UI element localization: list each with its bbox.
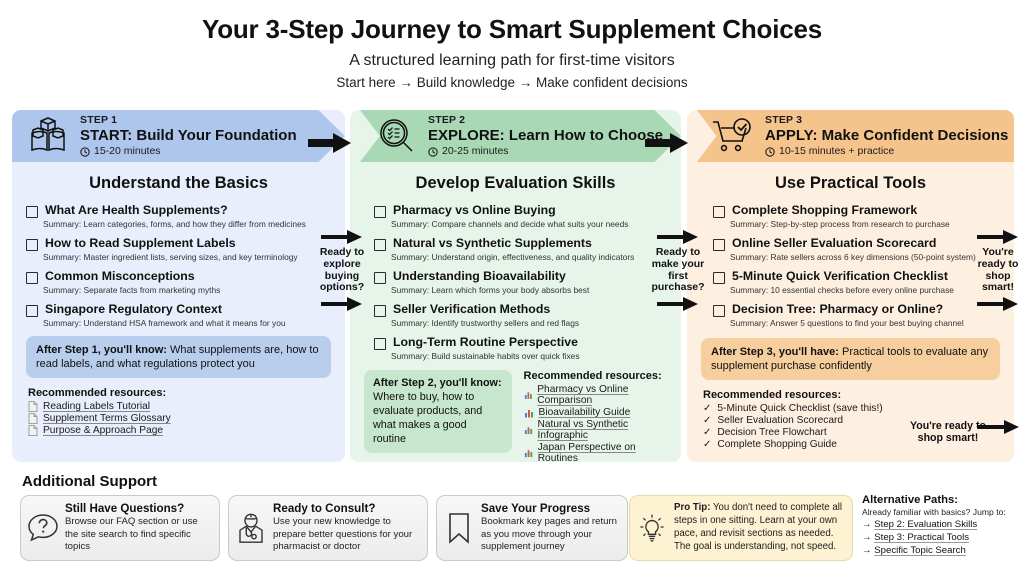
checklist-item-summary: Summary: Step-by-step process from resea… [730,219,1000,229]
alternative-path-label: Step 2: Evaluation Skills [874,519,977,530]
checklist-item-title: Decision Tree: Pharmacy or Online? [732,302,943,316]
check-icon: ✓ [703,439,711,450]
alternative-path-link[interactable]: → Step 3: Practical Tools [862,532,1022,543]
resource-label: 5-Minute Quick Checklist (save this!) [717,403,882,414]
step-2-resources: Recommended resources: Pharmacy vs Onlin… [524,370,667,462]
resources-heading: Recommended resources: [524,370,667,382]
checkbox-icon[interactable] [26,305,38,317]
infographic-page: Your 3-Step Journey to Smart Supplement … [0,0,1024,571]
checklist-item[interactable]: Seller Verification Methods Summary: Ide… [374,302,667,328]
bar-chart-icon [524,390,533,400]
band-arrow-1-icon [308,132,352,154]
checklist-item-summary: Summary: Compare channels and decide wha… [391,219,667,229]
checklist-item[interactable]: Natural vs Synthetic Supplements Summary… [374,236,667,262]
checklist-item-title: Understanding Bioavailability [393,269,566,283]
step-3-duration: 10-15 minutes + practice [779,146,894,157]
step-2-footer: After Step 2, you'll know: Where to buy,… [350,370,681,462]
shopping-cart-check-icon [707,117,759,155]
support-card-body: Use your new knowledge to prepare better… [273,516,419,553]
step-2-column: STEP 2 EXPLORE: Learn How to Choose 20-2… [350,110,681,462]
step-1-section-heading: Understand the Basics [12,174,345,193]
support-card-consult[interactable]: Ready to Consult? Use your new knowledge… [228,495,428,561]
step-3-header-band: STEP 3 APPLY: Make Confident Decisions 1… [687,110,1014,162]
step-1-header-band: STEP 1 START: Build Your Foundation 15-2… [12,110,345,162]
alternative-paths-box: Alternative Paths: Already familiar with… [862,494,1022,556]
step-1-duration-row: 15-20 minutes [80,146,297,157]
connector-3: You're ready to shop smart! [972,230,1024,311]
checklist-item-title: Natural vs Synthetic Supplements [393,236,592,250]
resources-heading: Recommended resources: [28,387,345,399]
bar-chart-icon [524,425,533,435]
document-icon [28,425,38,436]
resource-link[interactable]: Pharmacy vs Online Comparison [524,384,667,406]
alternative-path-label: Step 3: Practical Tools [874,532,969,543]
checklist-item[interactable]: Common Misconceptions Summary: Separate … [26,269,331,295]
alternative-path-link[interactable]: → Step 2: Evaluation Skills [862,519,1022,530]
step-3-checklist: Complete Shopping Framework Summary: Ste… [687,203,1014,328]
step-3-name: APPLY: Make Confident Decisions [765,128,1008,144]
resource-label: Complete Shopping Guide [717,439,837,450]
step-3-label: STEP 3 [765,115,1008,126]
page-subtitle: A structured learning path for first-tim… [0,45,1024,70]
alternative-path-link[interactable]: → Specific Topic Search [862,545,1022,556]
checklist-item-title: Online Seller Evaluation Scorecard [732,236,936,250]
resource-link[interactable]: Bioavailability Guide [524,407,667,418]
checklist-item-title: How to Read Supplement Labels [45,236,236,250]
arrow-right-icon [977,230,1019,244]
connector-3-label: You're ready to shop smart! [972,247,1024,294]
checklist-item-summary: Summary: Build sustainable habits over q… [391,351,667,361]
resource-link[interactable]: Supplement Terms Glossary [28,413,345,424]
support-card-title: Save Your Progress [481,502,619,515]
bar-chart-icon [524,408,534,418]
step-1-duration: 15-20 minutes [94,146,161,157]
checklist-item[interactable]: Pharmacy vs Online Buying Summary: Compa… [374,203,667,229]
checklist-item-summary: Summary: Identify trustworthy sellers an… [391,318,667,328]
checkbox-icon[interactable] [713,272,725,284]
clock-icon [80,147,90,157]
checklist-item-title: Long-Term Routine Perspective [393,335,578,349]
step-2-section-heading: Develop Evaluation Skills [350,174,681,193]
resource-label: Japan Perspective on Routines [538,442,667,462]
checkbox-icon[interactable] [713,305,725,317]
step-1-outcome-box: After Step 1, you'll know: What suppleme… [26,336,331,378]
alternative-paths-subtitle: Already familiar with basics? Jump to: [862,507,1022,517]
checklist-item-title: Singapore Regulatory Context [45,302,222,316]
step-1-checklist: What Are Health Supplements? Summary: Le… [12,203,345,328]
support-card-title: Ready to Consult? [273,502,419,515]
step-2-duration: 20-25 minutes [442,146,509,157]
resource-link[interactable]: Purpose & Approach Page [28,425,345,436]
alternative-paths-title: Alternative Paths: [862,494,1022,506]
checklist-item[interactable]: Online Seller Evaluation Scorecard Summa… [713,236,1000,262]
lightbulb-icon [630,512,674,544]
checkbox-icon[interactable] [374,239,386,251]
checkbox-icon[interactable] [26,239,38,251]
checklist-item[interactable]: What Are Health Supplements? Summary: Le… [26,203,331,229]
pro-tip-label: Pro Tip: [674,502,710,513]
step-1-column: STEP 1 START: Build Your Foundation 15-2… [12,110,345,462]
checkbox-icon[interactable] [713,206,725,218]
checklist-item-summary: Summary: Rate sellers across 6 key dimen… [730,252,1000,262]
step-2-outcome-text: Where to buy, how to evaluate products, … [373,391,482,444]
resource-label: Supplement Terms Glossary [43,413,171,424]
resource-label: Decision Tree Flowchart [717,427,826,438]
arrow-right-icon [657,230,699,244]
bar-chart-icon [524,448,533,458]
step-3-column: STEP 3 APPLY: Make Confident Decisions 1… [687,110,1014,462]
resource-label: Seller Evaluation Scorecard [717,415,843,426]
checkbox-icon[interactable] [374,206,386,218]
checklist-item-summary: Summary: 10 essential checks before ever… [730,285,1000,295]
checkbox-icon[interactable] [374,338,386,350]
checklist-item-summary: Summary: Understand HSA framework and wh… [43,318,331,328]
bookmark-icon [437,511,481,545]
checklist-item[interactable]: Understanding Bioavailability Summary: L… [374,269,667,295]
pharmacist-icon [229,511,273,545]
page-tagline: Start here → Build knowledge → Make conf… [0,70,1024,90]
step-2-label: STEP 2 [428,115,663,126]
arrow-right-icon [657,297,699,311]
arrow-right-icon [321,230,363,244]
step-2-duration-row: 20-25 minutes [428,146,663,157]
check-icon: ✓ [703,403,711,414]
band-arrow-2-icon [645,132,689,154]
document-icon [28,413,38,424]
step-3-outcome-label: After Step 3, you'll have: [711,346,839,358]
step-3-section-heading: Use Practical Tools [687,174,1014,193]
support-card-body: Browse our FAQ section or use the site s… [65,516,211,553]
document-icon [28,401,38,412]
resource-link[interactable]: Natural vs Synthetic Infographic [524,419,667,441]
support-heading: Additional Support [22,473,157,490]
checkbox-icon[interactable] [26,272,38,284]
step-1-resources: Recommended resources: Reading Labels Tu… [28,387,345,436]
checklist-item-summary: Summary: Separate facts from marketing m… [43,285,331,295]
checklist-item[interactable]: How to Read Supplement Labels Summary: M… [26,236,331,262]
checklist-item-title: Pharmacy vs Online Buying [393,203,556,217]
support-card-faq[interactable]: Still Have Questions? Browse our FAQ sec… [20,495,220,561]
checklist-item-title: What Are Health Supplements? [45,203,228,217]
checklist-item[interactable]: Decision Tree: Pharmacy or Online? Summa… [713,302,1000,328]
final-arrow-right-icon [978,420,1020,434]
checklist-item[interactable]: 5-Minute Quick Verification Checklist Su… [713,269,1000,295]
resource-label: Pharmacy vs Online Comparison [537,384,667,406]
resource-label: Reading Labels Tutorial [43,401,150,412]
clock-icon [765,147,775,157]
connector-2: Ready to make your first purchase? [650,230,706,311]
step-1-name: START: Build Your Foundation [80,128,297,144]
checklist-item-title: 5-Minute Quick Verification Checklist [732,269,948,283]
pro-tip-box: Pro Tip: You don't need to complete all … [629,495,853,561]
checklist-item-title: Complete Shopping Framework [732,203,917,217]
checklist-item-summary: Summary: Understand origin, effectivenes… [391,252,667,262]
checklist-item-title: Seller Verification Methods [393,302,550,316]
check-icon: ✓ [703,415,711,426]
check-icon: ✓ [703,427,711,438]
checklist-item-summary: Summary: Master ingredient lists, servin… [43,252,331,262]
checklist-item[interactable]: Long-Term Routine Perspective Summary: B… [374,335,667,361]
clock-icon [428,147,438,157]
checklist-item-summary: Summary: Answer 5 questions to find your… [730,318,1000,328]
support-card-save[interactable]: Save Your Progress Bookmark key pages an… [436,495,628,561]
additional-support-section: Additional Support Still Have Questions?… [0,470,1024,571]
alternative-path-label: Specific Topic Search [874,545,966,556]
checkbox-icon[interactable] [374,272,386,284]
step-1-outcome-label: After Step 1, you'll know: [36,344,167,356]
resource-link[interactable]: Reading Labels Tutorial [28,401,345,412]
resources-heading: Recommended resources: [703,389,1014,401]
resource-link[interactable]: Japan Perspective on Routines [524,442,667,462]
arrow-right-icon [321,297,363,311]
support-card-title: Still Have Questions? [65,502,211,515]
checklist-item[interactable]: Complete Shopping Framework Summary: Ste… [713,203,1000,229]
checklist-item-summary: Summary: Learn which forms your body abs… [391,285,667,295]
checklist-item-title: Common Misconceptions [45,269,195,283]
step-3-duration-row: 10-15 minutes + practice [765,146,1008,157]
page-title: Your 3-Step Journey to Smart Supplement … [0,0,1024,45]
step-3-outcome-box: After Step 3, you'll have: Practical too… [701,338,1000,380]
checkbox-icon[interactable] [26,206,38,218]
resource-link[interactable]: ✓ 5-Minute Quick Checklist (save this!) [703,403,1014,414]
steps-container: STEP 1 START: Build Your Foundation 15-2… [0,110,1024,470]
step-1-label: STEP 1 [80,115,297,126]
checklist-item[interactable]: Singapore Regulatory Context Summary: Un… [26,302,331,328]
step-2-header-band: STEP 2 EXPLORE: Learn How to Choose 20-2… [350,110,681,162]
checklist-item-summary: Summary: Learn categories, forms, and ho… [43,219,331,229]
resource-label: Purpose & Approach Page [43,425,163,436]
checkbox-icon[interactable] [713,239,725,251]
connector-1-label: Ready to explore buying options? [316,247,368,294]
open-book-blocks-icon [22,117,74,155]
question-bubble-icon [21,512,65,544]
arrow-right-icon [977,297,1019,311]
magnifier-checklist-icon [370,117,422,155]
support-card-body: Bookmark key pages and return as you mov… [481,516,619,553]
step-2-outcome-box: After Step 2, you'll know: Where to buy,… [364,370,512,453]
connector-1: Ready to explore buying options? [316,230,368,311]
connector-2-label: Ready to make your first purchase? [650,247,706,294]
header: Your 3-Step Journey to Smart Supplement … [0,0,1024,90]
step-2-checklist: Pharmacy vs Online Buying Summary: Compa… [350,203,681,361]
step-2-name: EXPLORE: Learn How to Choose [428,128,663,144]
resource-label: Bioavailability Guide [539,407,631,418]
checkbox-icon[interactable] [374,305,386,317]
step-2-outcome-label: After Step 2, you'll know: [373,377,502,389]
resource-label: Natural vs Synthetic Infographic [538,419,667,441]
